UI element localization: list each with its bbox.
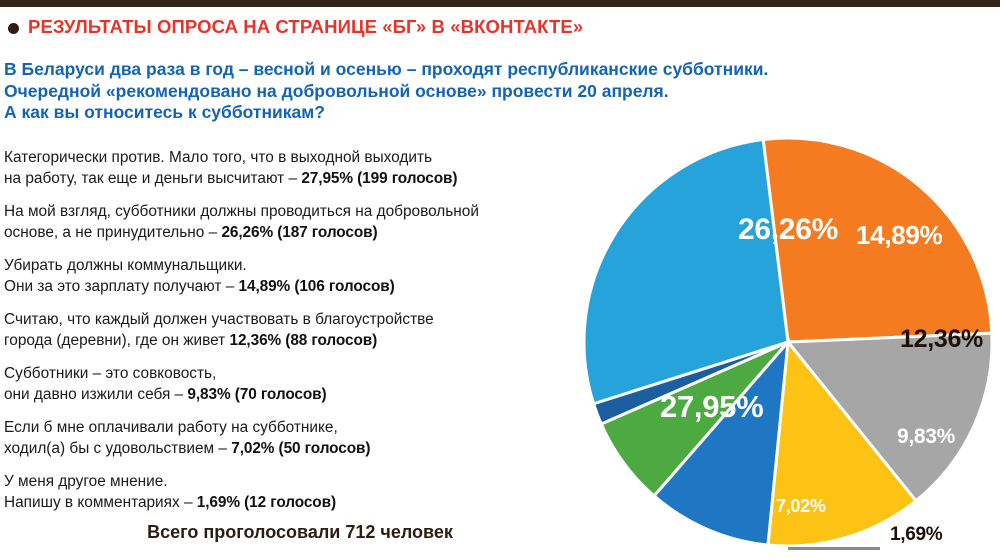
intro-line-2: Очередной «рекомендовано на добровольной…: [4, 81, 994, 103]
slice-label-3: 9,83%: [897, 425, 955, 449]
answer-value: 27,95% (199 голосов): [301, 170, 457, 187]
list-item: Категорически против. Мало того, что в в…: [4, 148, 574, 189]
answer-text: на работу, так еще и деньги высчитают –: [4, 170, 301, 187]
pie-chart: 26,26% 14,89% 12,36% 9,83% 7,02% 1,69% 2…: [560, 120, 1000, 560]
answer-line: на работу, так еще и деньги высчитают – …: [4, 169, 574, 190]
intro-paragraph: В Беларуси два раза в год – весной и осе…: [4, 59, 994, 124]
slice-label-4: 7,02%: [776, 496, 826, 517]
answer-text: ходил(а) бы с удовольствием –: [4, 440, 231, 457]
answer-value: 1,69% (12 голосов): [197, 494, 336, 511]
slice-label-1: 14,89%: [856, 220, 942, 251]
answer-line: Убирать должны коммунальщики.: [4, 256, 574, 277]
slice-label-0: 26,26%: [738, 213, 838, 247]
answer-line: У меня другое мнение.: [4, 472, 574, 493]
list-item: У меня другое мнение. Напишу в комментар…: [4, 472, 574, 513]
answer-text: Напишу в комментариях –: [4, 494, 197, 511]
answer-value: 12,36% (88 голосов): [230, 332, 378, 349]
answer-value: 9,83% (70 голосов): [187, 386, 326, 403]
answer-value: 26,26% (187 голосов): [221, 224, 377, 241]
answer-text: основе, а не принудительно –: [4, 224, 221, 241]
answer-line: Субботники – это совковость,: [4, 364, 574, 385]
list-item: Если б мне оплачивали работу на субботни…: [4, 418, 574, 459]
answer-value: 7,02% (50 голосов): [231, 440, 370, 457]
answers-list: Категорически против. Мало того, что в в…: [4, 148, 574, 526]
answer-text: они давно изжили себя –: [4, 386, 187, 403]
answer-line: ходил(а) бы с удовольствием – 7,02% (50 …: [4, 439, 574, 460]
list-item: На мой взгляд, субботники должны проводи…: [4, 202, 574, 243]
answer-line: Они за это зарплату получают – 14,89% (1…: [4, 277, 574, 298]
list-item: Убирать должны коммунальщики. Они за это…: [4, 256, 574, 297]
answer-text: города (деревни), где он живет: [4, 332, 230, 349]
answer-line: Если б мне оплачивали работу на субботни…: [4, 418, 574, 439]
answer-line: города (деревни), где он живет 12,36% (8…: [4, 331, 574, 352]
top-accent-bar: [0, 0, 1000, 7]
answer-line: Считаю, что каждый должен участвовать в …: [4, 310, 574, 331]
total-votes-label: Всего проголосовали 712 человек: [0, 522, 600, 543]
list-item: Субботники – это совковость, они давно и…: [4, 364, 574, 405]
slice-label-6: 27,95%: [660, 389, 763, 425]
list-item: Считаю, что каждый должен участвовать в …: [4, 310, 574, 351]
bullet-dot-icon: [8, 23, 19, 34]
answer-line: Напишу в комментариях – 1,69% (12 голосо…: [4, 493, 574, 514]
callout-leader-line: [788, 547, 880, 550]
headline: РЕЗУЛЬТАТЫ ОПРОСА НА СТРАНИЦЕ «БГ» В «ВК…: [8, 16, 728, 38]
page-title: РЕЗУЛЬТАТЫ ОПРОСА НА СТРАНИЦЕ «БГ» В «ВК…: [28, 16, 583, 38]
slice-label-2: 12,36%: [900, 325, 983, 354]
intro-line-1: В Беларуси два раза в год – весной и осе…: [4, 59, 994, 81]
answer-line: Категорически против. Мало того, что в в…: [4, 148, 574, 169]
answer-line: На мой взгляд, субботники должны проводи…: [4, 202, 574, 223]
answer-text: Они за это зарплату получают –: [4, 278, 239, 295]
answer-line: основе, а не принудительно – 26,26% (187…: [4, 223, 574, 244]
slice-label-5: 1,69%: [890, 524, 942, 546]
answer-line: они давно изжили себя – 9,83% (70 голосо…: [4, 385, 574, 406]
answer-value: 14,89% (106 голосов): [239, 278, 395, 295]
